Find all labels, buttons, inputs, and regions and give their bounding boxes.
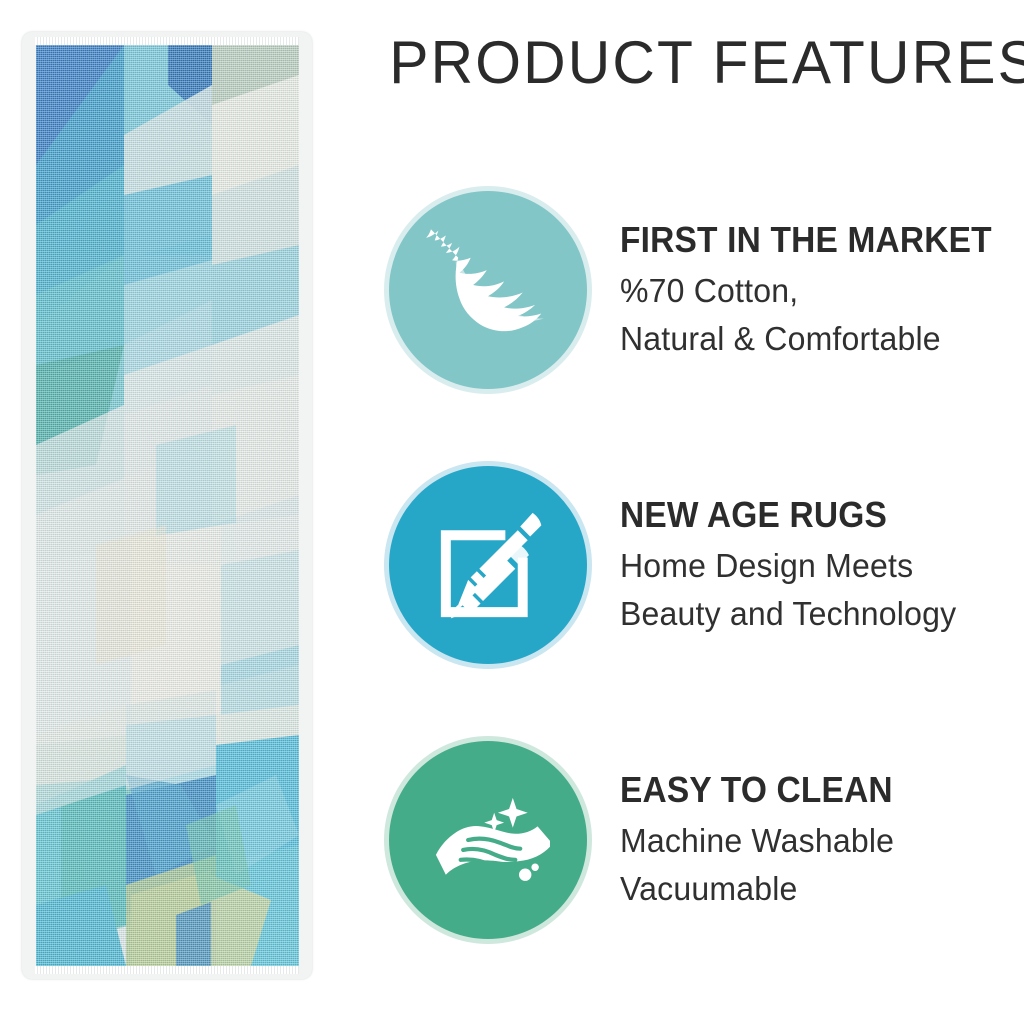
rug-fringe-bottom <box>35 966 299 974</box>
feature-badge-pen-and-brush <box>370 447 606 683</box>
feature-row-new-age-rugs: NEW AGE RUGS Home Design Meets Beauty an… <box>370 445 1010 685</box>
feature-line: Natural & Comfortable <box>620 315 1008 363</box>
feature-badge-cleaning <box>370 722 606 958</box>
feature-text-block: FIRST IN THE MARKET %70 Cotton, Natural … <box>620 217 1020 362</box>
page-title: PRODUCT FEATURES <box>389 28 997 97</box>
pen-and-brush-icon <box>426 503 550 627</box>
feature-heading: FIRST IN THE MARKET <box>620 221 992 259</box>
feature-text-block: EASY TO CLEAN Machine Washable Vacuumabl… <box>620 767 913 912</box>
feature-line: Home Design Meets <box>620 542 956 590</box>
feature-row-first-in-the-market: FIRST IN THE MARKET %70 Cotton, Natural … <box>370 170 1010 410</box>
feather-icon <box>426 228 550 352</box>
hand-wiping-cloth-icon <box>426 778 550 902</box>
feature-badge-feather <box>370 172 606 408</box>
rug-fringe-top <box>35 37 299 45</box>
feature-line: %70 Cotton, <box>620 267 1008 315</box>
feature-heading: EASY TO CLEAN <box>620 771 893 809</box>
product-rug-image <box>22 32 312 979</box>
feature-line: Machine Washable <box>620 817 905 865</box>
feature-text-block: NEW AGE RUGS Home Design Meets Beauty an… <box>620 492 967 637</box>
feature-line: Beauty and Technology <box>620 590 956 638</box>
rug-pattern-area <box>36 45 299 966</box>
feature-heading: NEW AGE RUGS <box>620 496 942 534</box>
rug-geometric-pattern <box>36 45 299 966</box>
infographic-canvas: PRODUCT FEATURES FIRST IN THE MARKET %70… <box>0 0 1024 1024</box>
feature-line: Vacuumable <box>620 865 905 913</box>
feature-row-easy-to-clean: EASY TO CLEAN Machine Washable Vacuumabl… <box>370 720 1010 960</box>
